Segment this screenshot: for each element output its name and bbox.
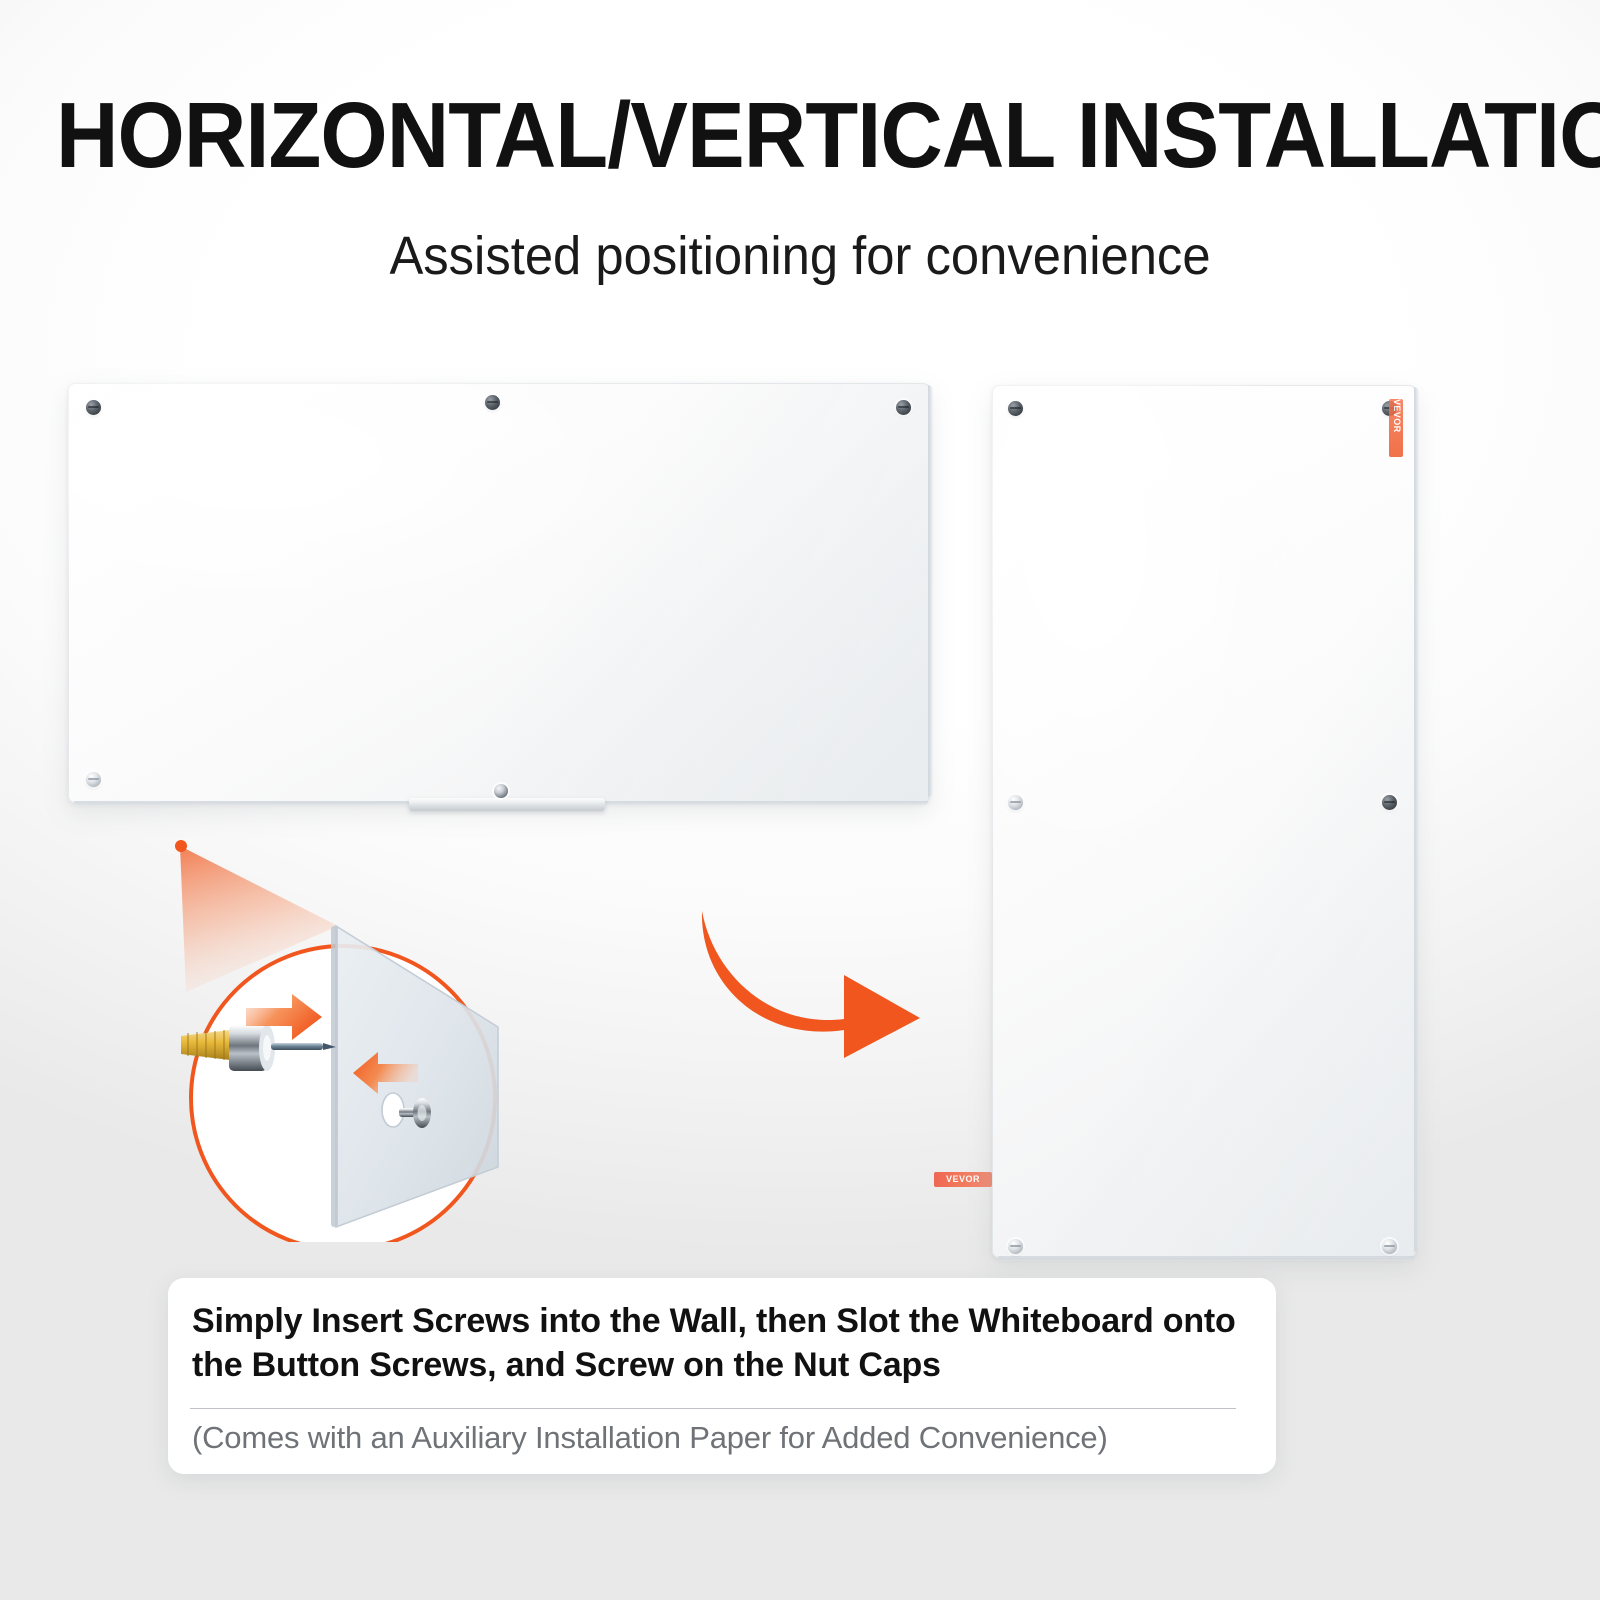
vevor-badge-label: VEVOR xyxy=(1390,399,1403,413)
board-glass-sheen xyxy=(68,383,930,803)
screw-icon xyxy=(86,772,101,787)
screw-icon xyxy=(86,400,101,415)
caption-divider xyxy=(190,1408,1236,1409)
instruction-caption-card: Simply Insert Screws into the Wall, then… xyxy=(168,1278,1276,1474)
vertical-whiteboard xyxy=(992,385,1416,1258)
screw-icon xyxy=(896,400,911,415)
board-right-edge xyxy=(1414,387,1419,1252)
caption-sub-text: (Comes with an Auxiliary Installation Pa… xyxy=(192,1420,1252,1456)
screw-icon xyxy=(1008,1239,1023,1254)
vevor-badge: VEVOR xyxy=(934,1172,992,1187)
page-subtitle: Assisted positioning for convenience xyxy=(48,225,1552,287)
horizontal-whiteboard: VEVOR xyxy=(68,383,930,803)
board-right-edge xyxy=(928,385,933,797)
vevor-badge: VEVOR xyxy=(1389,399,1403,457)
curved-arrow-shape xyxy=(702,911,920,1058)
callout-anchor-dot xyxy=(175,840,187,852)
screw-icon xyxy=(1008,795,1023,810)
screw-icon xyxy=(485,395,500,410)
pen-tray xyxy=(409,798,605,811)
rotate-orientation-arrow xyxy=(668,878,938,1058)
board-bottom-edge xyxy=(998,1256,1414,1261)
screw-icon xyxy=(1008,401,1023,416)
screw-icon xyxy=(1382,1239,1397,1254)
caption-main-text: Simply Insert Screws into the Wall, then… xyxy=(192,1300,1252,1387)
page-title: HORIZONTAL/VERTICAL INSTALLATION xyxy=(56,88,1544,183)
installation-detail-magnifier xyxy=(150,822,550,1242)
tray-screw-icon xyxy=(494,784,508,798)
screw-icon xyxy=(1382,795,1397,810)
screw-shaft xyxy=(271,1043,323,1050)
infographic-canvas: HORIZONTAL/VERTICAL INSTALLATION Assiste… xyxy=(0,0,1600,1600)
board-glass-sheen xyxy=(992,385,1416,1258)
